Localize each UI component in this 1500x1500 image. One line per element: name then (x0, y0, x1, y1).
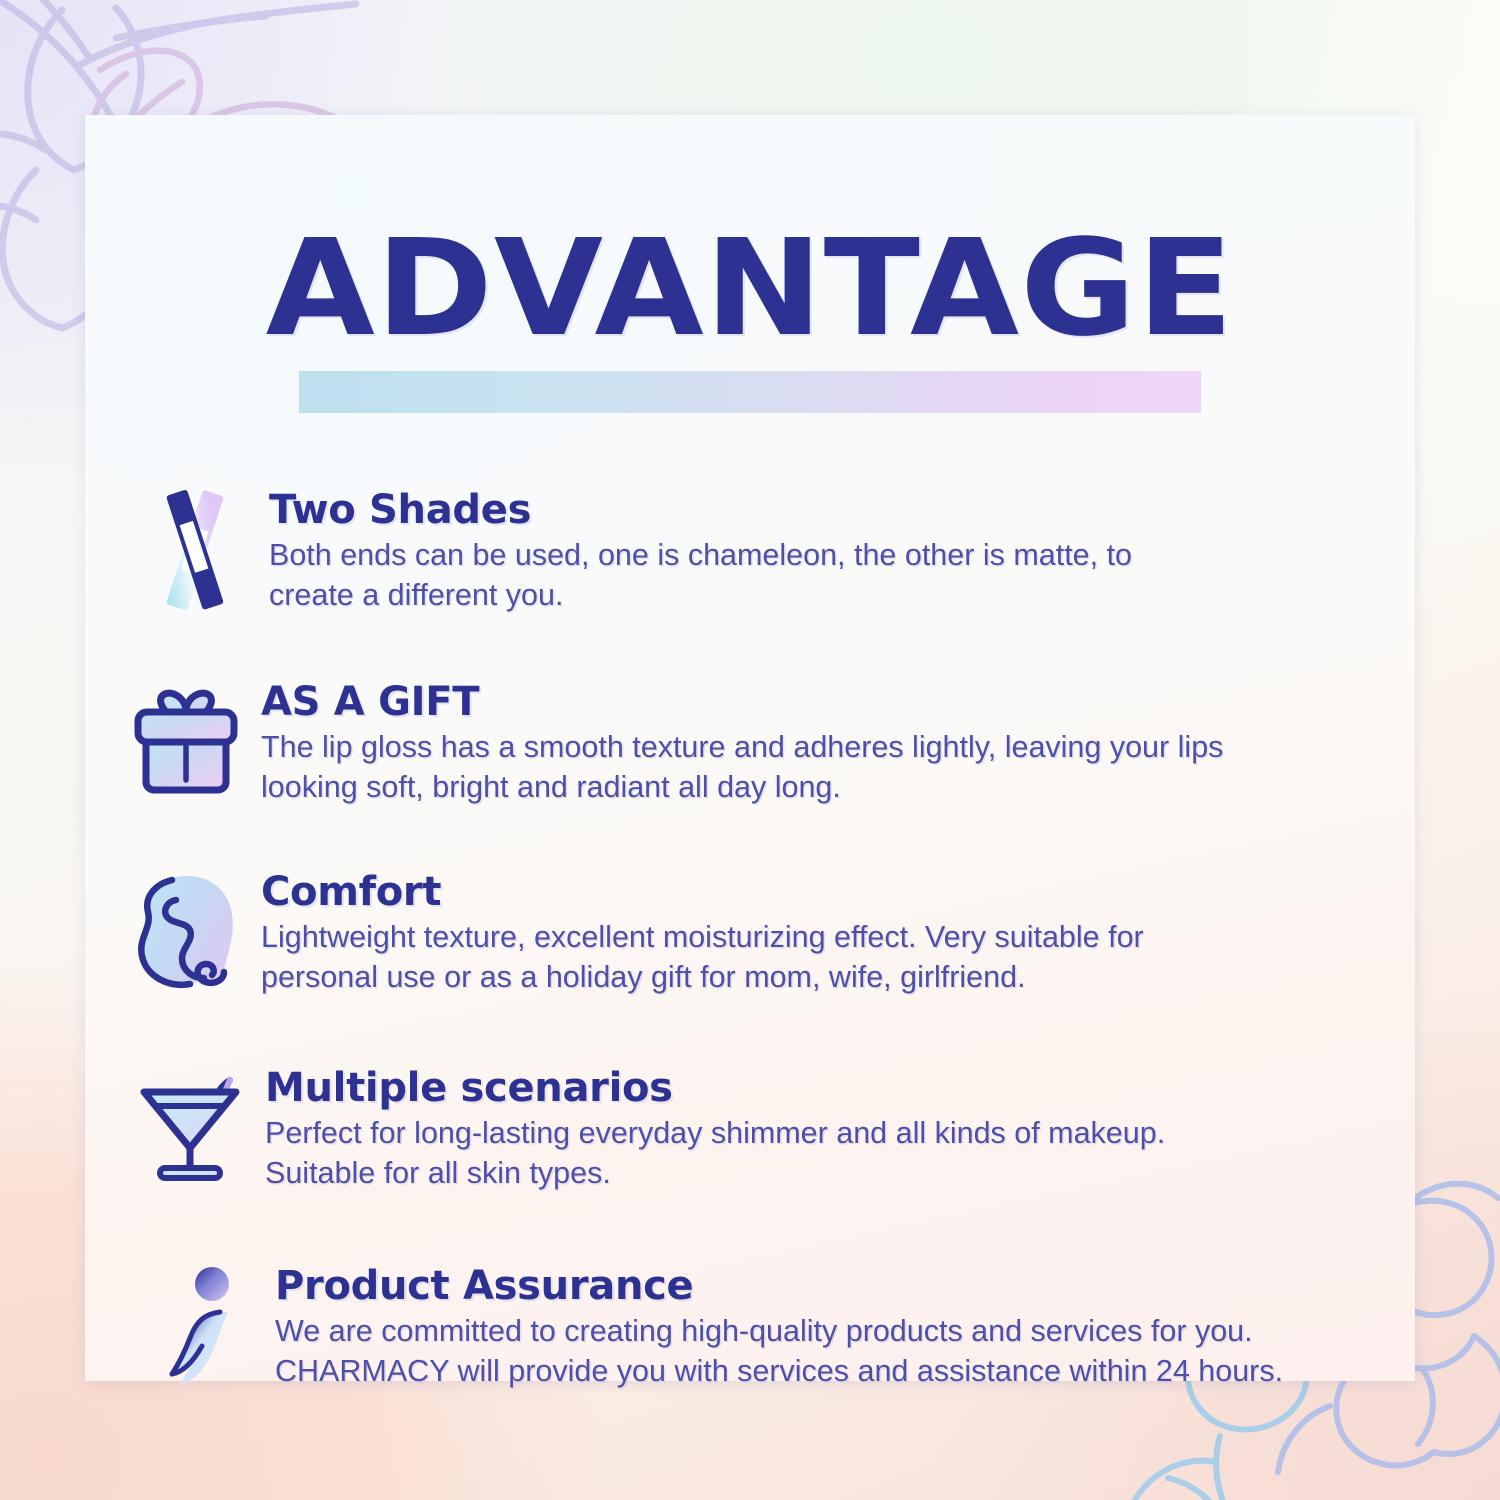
feature-text: Two Shades Both ends can be used, one is… (269, 485, 1132, 615)
poster-canvas: ADVANTAGE (0, 0, 1500, 1500)
title-highlight-bar (299, 371, 1201, 413)
feature-title: Comfort (261, 871, 1144, 914)
feature-text: Multiple scenarios Perfect for long-last… (265, 1063, 1165, 1193)
feature-body: Lightweight texture, excellent moisturiz… (261, 918, 1144, 997)
gift-box-icon (127, 677, 245, 807)
feature-title: AS A GIFT (261, 681, 1223, 724)
page-title-block: ADVANTAGE (85, 195, 1415, 405)
feature-body: We are committed to creating high-qualit… (275, 1312, 1283, 1391)
content-panel: ADVANTAGE (85, 115, 1415, 1381)
feature-body: Perfect for long-lasting everyday shimme… (265, 1114, 1165, 1193)
feature-row: Multiple scenarios Perfect for long-last… (131, 1063, 1381, 1193)
crossed-lipstick-icon (135, 485, 253, 615)
feature-title: Multiple scenarios (265, 1067, 1165, 1110)
feature-row: Comfort Lightweight texture, excellent m… (127, 867, 1377, 997)
feature-row: Product Assurance We are committed to cr… (141, 1261, 1391, 1391)
feature-body: Both ends can be used, one is chameleon,… (269, 536, 1132, 615)
page-title: ADVANTAGE (45, 195, 1455, 356)
flowing-hair-icon (127, 867, 245, 997)
cocktail-glass-icon (131, 1063, 249, 1193)
feature-text: Product Assurance We are committed to cr… (275, 1261, 1283, 1391)
feature-text: Comfort Lightweight texture, excellent m… (261, 867, 1144, 997)
feature-row: Two Shades Both ends can be used, one is… (135, 485, 1385, 615)
feature-title: Two Shades (269, 489, 1132, 532)
feature-body: The lip gloss has a smooth texture and a… (261, 728, 1223, 807)
info-italic-i-icon (141, 1261, 259, 1391)
feature-row: AS A GIFT The lip gloss has a smooth tex… (127, 677, 1377, 807)
feature-text: AS A GIFT The lip gloss has a smooth tex… (261, 677, 1223, 807)
feature-title: Product Assurance (275, 1265, 1283, 1308)
